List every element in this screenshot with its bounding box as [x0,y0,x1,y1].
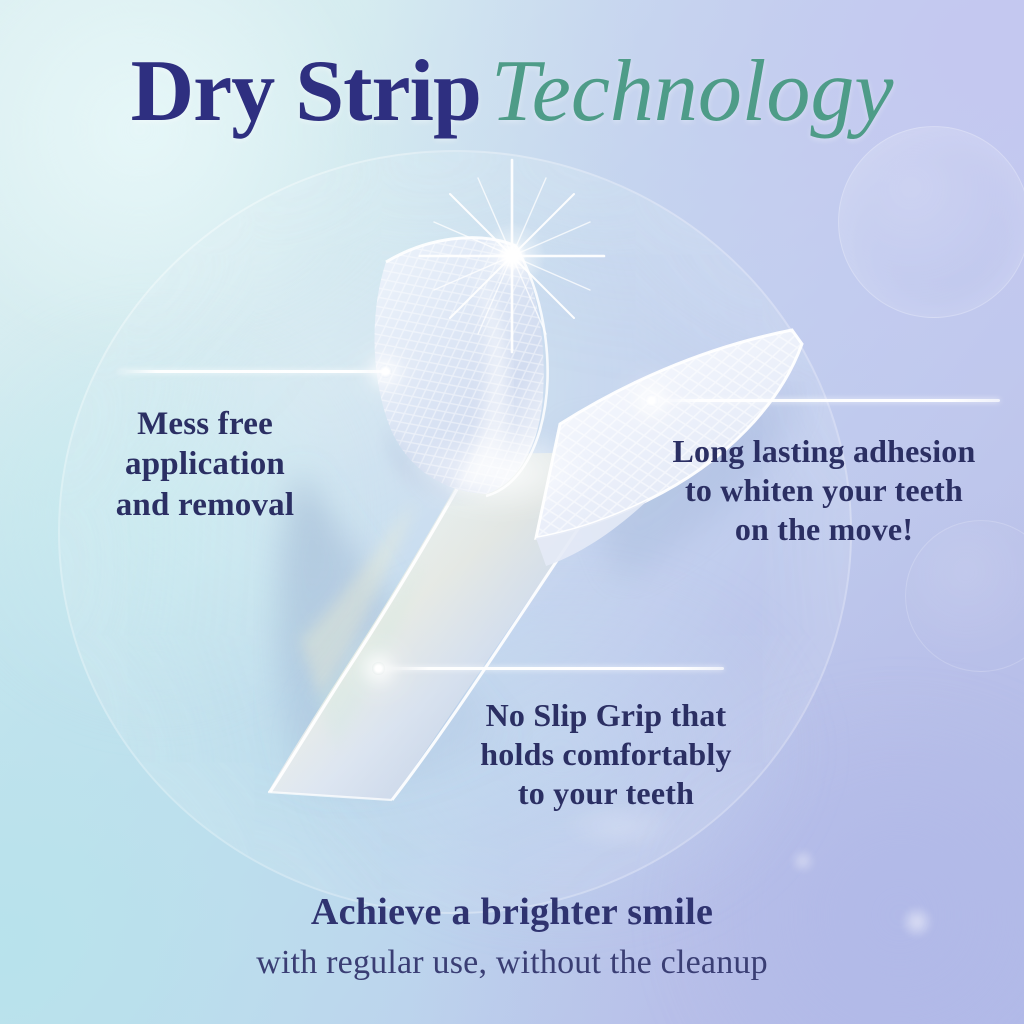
leader-line-mess-free [118,370,390,373]
callout-line: No Slip Grip that [404,696,808,735]
callout-line: and removal [40,485,370,525]
callout-line: to whiten your teeth [624,471,1024,510]
small-bubble-icon [838,126,1024,318]
strip-base-glow [404,426,596,518]
leader-line-no-slip [380,667,724,670]
tagline-secondary-line: with regular use, without the cleanup [0,942,1024,985]
leader-dot-no-slip [372,662,385,675]
footer-tagline: Achieve a brighter smile with regular us… [0,890,1024,984]
callout-line: Mess free [40,404,370,444]
callout-line: on the move! [624,510,1024,549]
callout-line: to your teeth [404,774,808,813]
title-italic-part: Technology [491,43,894,140]
callout-long-lasting-adhesion: Long lasting adhesion to whiten your tee… [624,432,1024,549]
leader-dot-adhesion [645,394,658,407]
leader-line-adhesion [652,399,1000,402]
bubble-highlight-icon-2 [790,848,816,874]
callout-line: Long lasting adhesion [624,432,1024,471]
callout-line: application [40,444,370,484]
strip-upper-flap [375,238,548,498]
tagline-primary-line: Achieve a brighter smile [0,890,1024,936]
title-bold-part: Dry Strip [131,43,481,140]
callout-no-slip-grip: No Slip Grip that holds comfortably to y… [404,696,808,813]
sparkle-icon [420,160,604,352]
infographic-canvas: Dry StripTechnology Mess free applicatio… [0,0,1024,1024]
callout-line: holds comfortably [404,735,808,774]
callout-mess-free: Mess free application and removal [40,404,370,525]
leader-dot-mess-free [379,365,392,378]
page-title: Dry StripTechnology [0,48,1024,136]
